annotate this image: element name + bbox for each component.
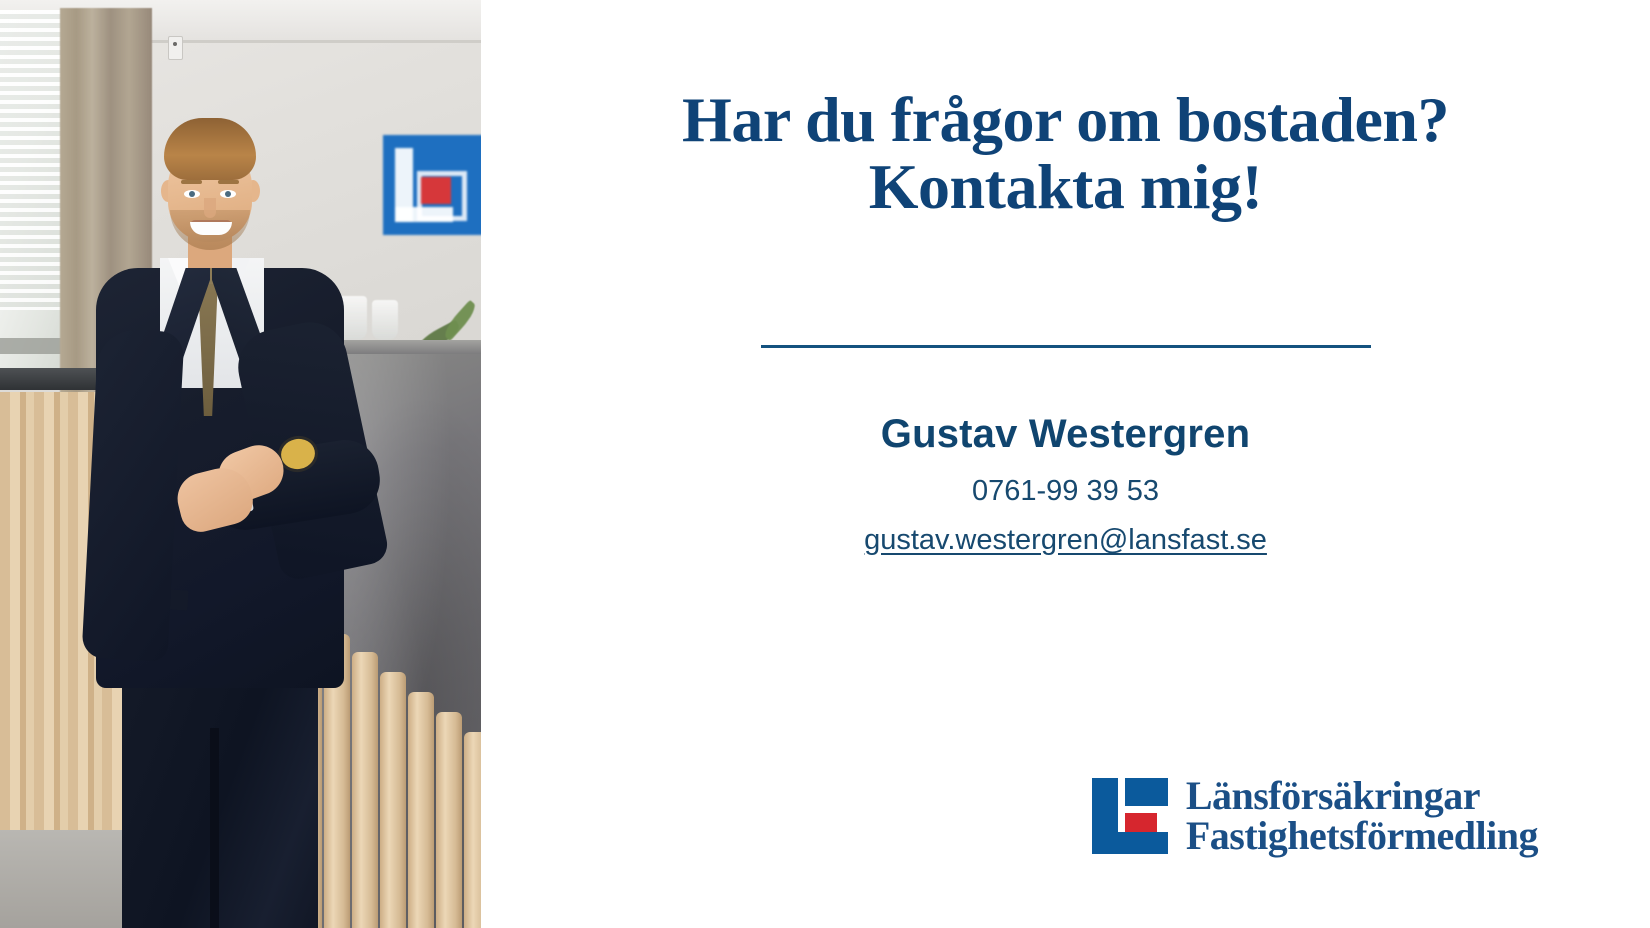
brand-wordmark-line-1: Länsförsäkringar	[1186, 776, 1538, 816]
agent-photo	[0, 0, 481, 928]
brand-wordmark-line-2: Fastighetsförmedling	[1186, 816, 1538, 856]
divider	[761, 345, 1371, 348]
brand-wordmark: Länsförsäkringar Fastighetsförmedling	[1186, 776, 1538, 856]
agent-name: Gustav Westergren	[481, 412, 1650, 457]
contact-block: Gustav Westergren 0761-99 39 53 gustav.w…	[481, 412, 1650, 557]
lansforsakringar-logo-icon	[1092, 778, 1168, 854]
content-area: Har du frågor om bostaden? Kontakta mig!…	[481, 0, 1650, 928]
photo-slat	[464, 732, 481, 928]
page-title: Har du frågor om bostaden? Kontakta mig!	[481, 86, 1650, 220]
photo-person	[60, 118, 420, 928]
brand-logo: Länsförsäkringar Fastighetsförmedling	[1092, 776, 1538, 856]
agent-email-link[interactable]: gustav.westergren@lansfast.se	[481, 524, 1650, 557]
headline-line-2: Kontakta mig!	[481, 153, 1650, 220]
headline-line-1: Har du frågor om bostaden?	[481, 86, 1650, 153]
photo-wall-sensor	[168, 36, 183, 60]
photo-slat	[436, 712, 462, 928]
agent-phone[interactable]: 0761-99 39 53	[481, 475, 1650, 508]
contact-slide: Har du frågor om bostaden? Kontakta mig!…	[0, 0, 1650, 928]
